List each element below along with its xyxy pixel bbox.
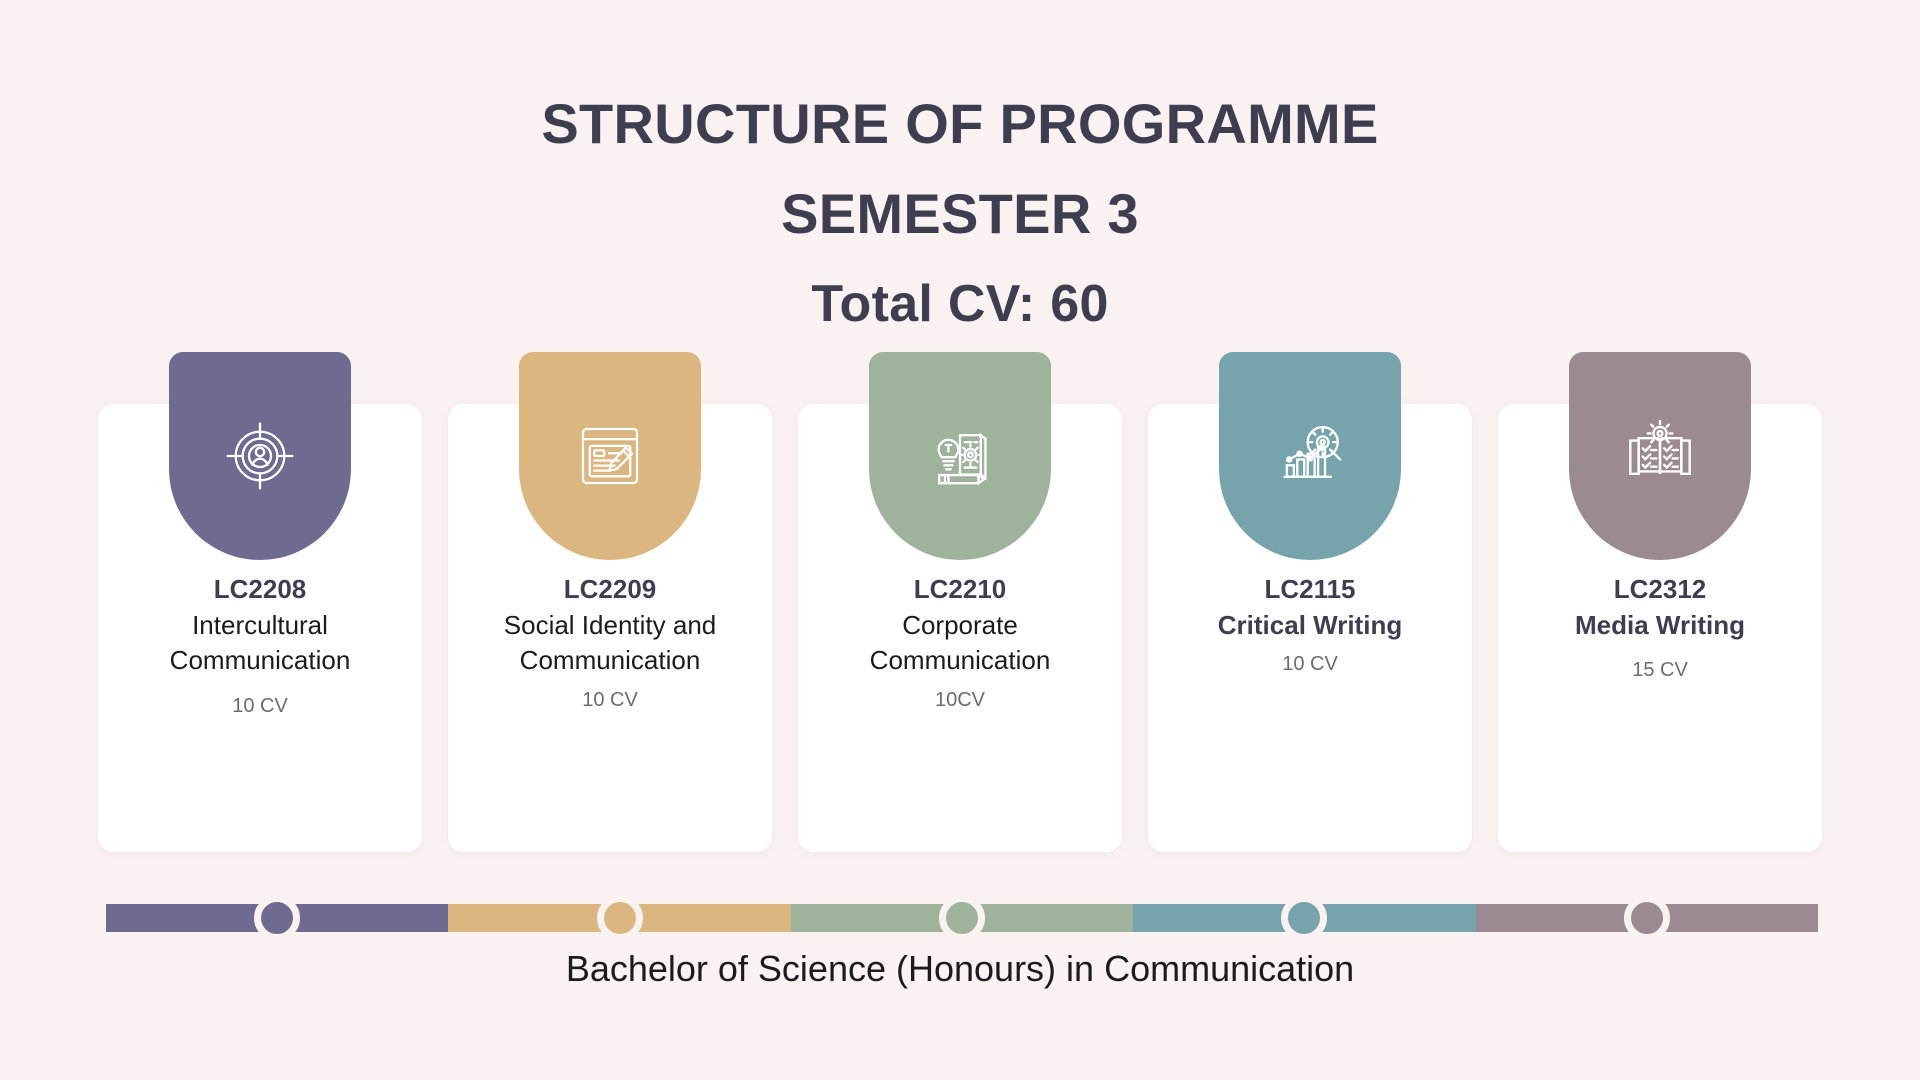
course-badge-shield [869, 352, 1051, 560]
document-pencil-icon [574, 420, 646, 492]
course-card[interactable]: LC2115 Critical Writing 10 CV [1148, 404, 1472, 852]
course-cards-row: LC2208 Intercultural Communication 10 CV [98, 404, 1822, 852]
progress-segment[interactable] [448, 904, 790, 932]
course-badge-shield [169, 352, 351, 560]
progress-segment[interactable] [106, 904, 448, 932]
course-card-body: LC2210 Corporate Communication 10CV [798, 572, 1122, 712]
course-card[interactable]: LC2210 Corporate Communication 10CV [798, 404, 1122, 852]
progress-marker[interactable] [1624, 895, 1670, 941]
page-title-total-cv: Total CV: 60 [0, 278, 1920, 330]
progress-segment[interactable] [791, 904, 1133, 932]
course-badge-shield [1219, 352, 1401, 560]
course-credit-value: 15 CV [1510, 659, 1810, 682]
course-card-body: LC2312 Media Writing 15 CV [1498, 572, 1822, 682]
course-code: LC2209 [460, 572, 760, 606]
course-badge-shield [519, 352, 701, 560]
page-title-block: STRUCTURE OF PROGRAMME SEMESTER 3 Total … [0, 96, 1920, 330]
page-title-line-1: STRUCTURE OF PROGRAMME [0, 96, 1920, 152]
page-title-line-2: SEMESTER 3 [0, 186, 1920, 242]
course-badge-shield [1569, 352, 1751, 560]
progress-marker[interactable] [1281, 895, 1327, 941]
course-credit-value: 10CV [810, 689, 1110, 712]
course-code: LC2312 [1510, 572, 1810, 606]
course-credit-value: 10 CV [460, 689, 760, 712]
programme-progress-bar[interactable] [106, 904, 1818, 932]
course-name: Corporate Communication [810, 608, 1110, 678]
progress-marker[interactable] [597, 895, 643, 941]
course-card[interactable]: LC2209 Social Identity and Communication… [448, 404, 772, 852]
course-card-body: LC2209 Social Identity and Communication… [448, 572, 772, 712]
progress-marker[interactable] [254, 895, 300, 941]
progress-segment[interactable] [1133, 904, 1475, 932]
programme-footer-label: Bachelor of Science (Honours) in Communi… [0, 948, 1920, 990]
course-card[interactable]: LC2208 Intercultural Communication 10 CV [98, 404, 422, 852]
course-name: Intercultural Communication [110, 608, 410, 678]
course-code: LC2210 [810, 572, 1110, 606]
course-card-body: LC2115 Critical Writing 10 CV [1148, 572, 1472, 676]
target-person-icon [223, 419, 297, 493]
progress-segment[interactable] [1476, 904, 1818, 932]
course-card-body: LC2208 Intercultural Communication 10 CV [98, 572, 422, 718]
course-credit-value: 10 CV [1160, 653, 1460, 676]
progress-marker[interactable] [939, 895, 985, 941]
course-credit-value: 10 CV [110, 695, 410, 718]
course-name: Social Identity and Communication [460, 608, 760, 678]
checklist-book-gear-icon [1622, 418, 1698, 494]
course-name: Critical Writing [1160, 608, 1460, 643]
course-code: LC2208 [110, 572, 410, 606]
course-code: LC2115 [1160, 572, 1460, 606]
course-name: Media Writing [1510, 608, 1810, 643]
lightbulb-gear-book-icon [923, 419, 997, 493]
chart-magnifier-icon [1273, 419, 1347, 493]
course-card[interactable]: LC2312 Media Writing 15 CV [1498, 404, 1822, 852]
